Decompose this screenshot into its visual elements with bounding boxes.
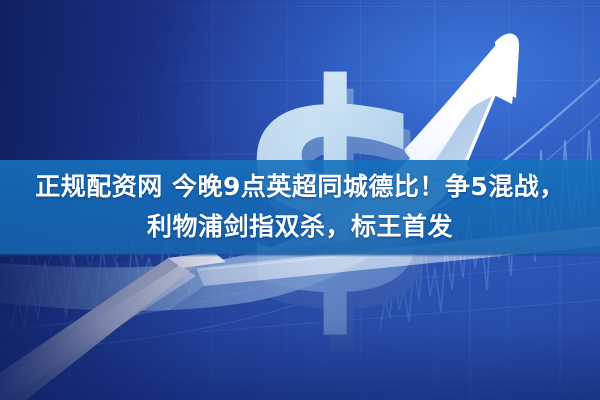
banner-image: $ $ $ $ bbox=[0, 0, 600, 400]
headline-text: 正规配资网 今晚9点英超同城德比！争5混战，利物浦剑指双杀，标王首发 bbox=[20, 167, 580, 247]
headline-band: 正规配资网 今晚9点英超同城德比！争5混战，利物浦剑指双杀，标王首发 bbox=[0, 160, 600, 254]
